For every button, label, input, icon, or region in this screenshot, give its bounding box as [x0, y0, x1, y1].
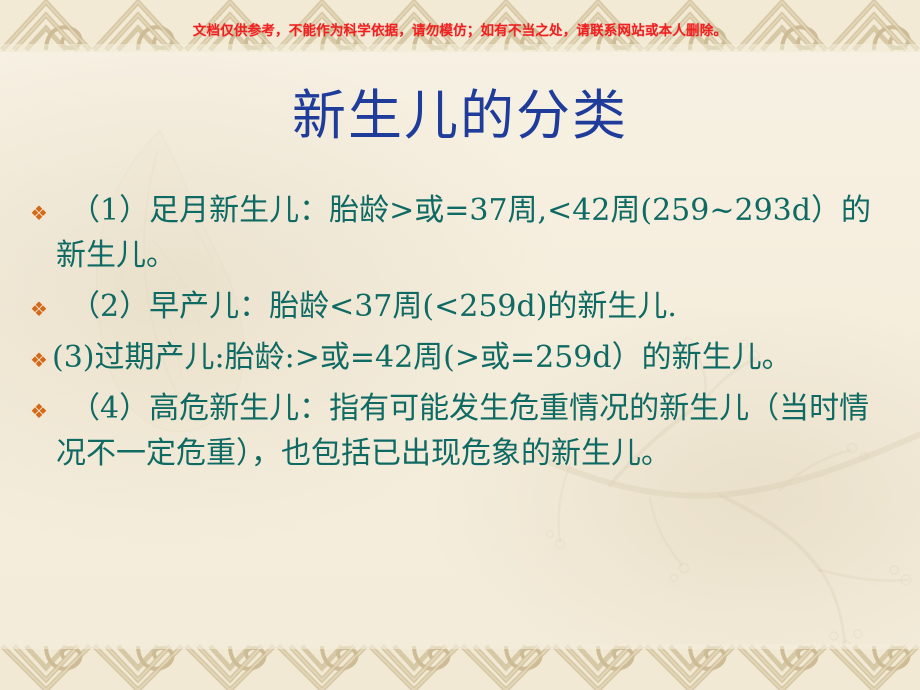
- bullet-item-3: ❖ (3)过期产儿:胎龄:>或=42周(>或=259d）的新生儿。: [30, 335, 896, 380]
- disclaimer-notice: 文档仅供参考，不能作为科学依据，请勿模仿；如有不当之处，请联系网站或本人删除。: [0, 19, 920, 39]
- bullet-item-4: ❖ （4）高危新生儿：指有可能发生危重情况的新生儿（当时情况不一定危重），也包括…: [30, 386, 896, 476]
- slide: 文档仅供参考，不能作为科学依据，请勿模仿；如有不当之处，请联系网站或本人删除。 …: [0, 0, 920, 690]
- bullet-text-4: （4）高危新生儿：指有可能发生危重情况的新生儿（当时情况不一定危重），也包括已出…: [56, 386, 896, 476]
- diamond-bullet-icon: ❖: [30, 284, 56, 319]
- greek-key-pattern-bottom: [0, 644, 920, 690]
- bullet-list: ❖ （1）足月新生儿：胎龄>或=37周,<42周(259~293d）的新生儿。 …: [30, 188, 896, 482]
- slide-title: 新生儿的分类: [0, 84, 920, 148]
- diamond-bullet-icon: ❖: [30, 335, 52, 370]
- bullet-item-1: ❖ （1）足月新生儿：胎龄>或=37周,<42周(259~293d）的新生儿。: [30, 188, 896, 278]
- bullet-item-2: ❖ （2）早产儿：胎龄<37周(<259d)的新生儿.: [30, 284, 896, 329]
- diamond-bullet-icon: ❖: [30, 386, 56, 421]
- diamond-bullet-icon: ❖: [30, 188, 56, 223]
- bullet-text-1: （1）足月新生儿：胎龄>或=37周,<42周(259~293d）的新生儿。: [56, 188, 896, 278]
- bullet-text-2: （2）早产儿：胎龄<37周(<259d)的新生儿.: [56, 284, 896, 329]
- bullet-text-3: (3)过期产儿:胎龄:>或=42周(>或=259d）的新生儿。: [52, 335, 896, 380]
- bottom-ornament-band: [0, 644, 920, 690]
